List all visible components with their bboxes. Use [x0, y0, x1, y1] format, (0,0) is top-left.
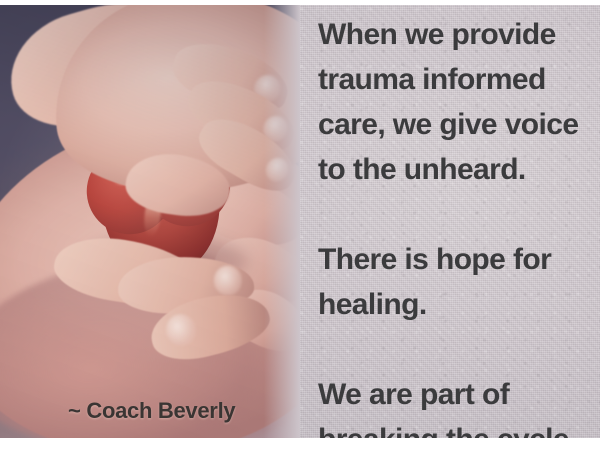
paragraph-spacer: [318, 192, 594, 237]
paragraph-spacer: [318, 327, 594, 372]
quote-line: to the unheard.: [318, 147, 594, 192]
quote-text: When we provide trauma informed care, we…: [318, 12, 594, 451]
quote-line: When we provide: [318, 12, 594, 57]
quote-line: trauma informed: [318, 57, 594, 102]
fingernail: [262, 154, 293, 186]
quote-line: care, we give voice: [318, 102, 594, 147]
photo-backdrop: [0, 5, 300, 438]
attribution-text: ~ Coach Beverly: [68, 398, 235, 424]
quote-poster: When we provide trauma informed care, we…: [0, 0, 600, 451]
top-white-border: [0, 0, 600, 5]
fingernail: [213, 265, 242, 296]
quote-line: We are part of: [318, 372, 594, 417]
bottom-white-border: [0, 438, 600, 451]
quote-line: There is hope for: [318, 237, 594, 282]
hands-holding-heart-photo: [0, 5, 300, 438]
fingernail: [163, 311, 200, 349]
quote-line: healing.: [318, 282, 594, 327]
